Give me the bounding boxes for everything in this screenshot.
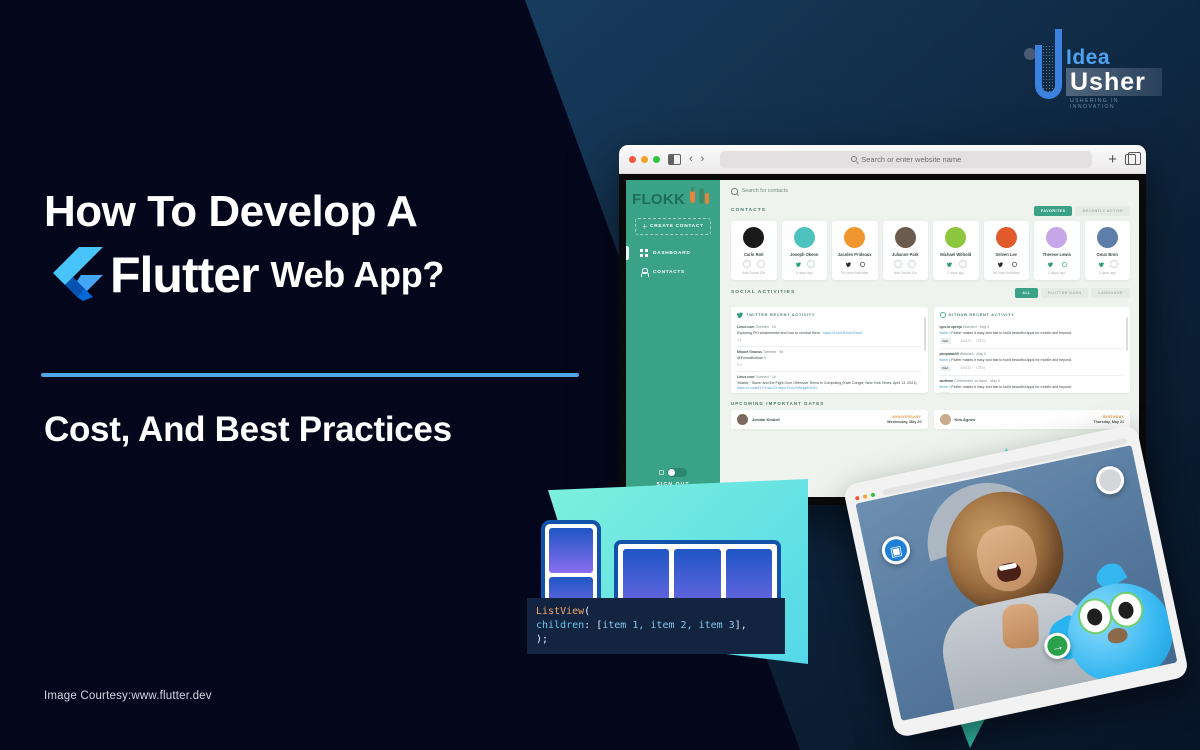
status-badge: BIRTHDAY: [1093, 415, 1124, 419]
contact-name: Carlo Roti: [733, 252, 775, 257]
avatar: [844, 227, 865, 248]
gh-time: Watched · May 9: [960, 352, 986, 356]
tweet-stats: 4 2: [737, 338, 922, 342]
flokk-brand-text: FLOKK: [632, 191, 685, 208]
avatar: [940, 414, 951, 425]
contact-card[interactable]: Michael Withold 2 days ago: [933, 221, 979, 280]
twitter-icon[interactable]: [743, 260, 751, 268]
avatar: [996, 227, 1017, 248]
close-icon[interactable]: [855, 495, 860, 500]
twitter-icon[interactable]: [793, 260, 801, 268]
tweet-body: Exploring PKI weaknesses and how to comb…: [737, 331, 922, 336]
gh-meta: igor-krupenja Watched · May 9: [940, 325, 1125, 329]
contacts-section-header: CONTACTS FAVORITES RECENTLY ACTIVE: [731, 206, 1130, 216]
github-icon[interactable]: [959, 260, 967, 268]
tweet-meta: Minuet Gnaeus Tweeted · 3d: [737, 350, 922, 354]
tweet-author: Linux.com: [737, 325, 755, 329]
date-value: Thursday, May 21: [1093, 420, 1124, 424]
person-icon: [640, 268, 648, 276]
maximize-icon[interactable]: [870, 492, 875, 497]
gh-language-tag: Dart: [940, 338, 952, 344]
avatar: [945, 227, 966, 248]
social-activities-title: SOCIAL ACTIVITIES: [731, 290, 795, 295]
tweet-author: Minuet Gnaeus: [737, 350, 762, 354]
tweet-time: Tweeted · 2d: [755, 325, 775, 329]
minimize-icon[interactable]: [641, 156, 648, 163]
contact-meta: No New Activities: [834, 271, 876, 275]
contact-social-row: [784, 260, 826, 268]
list-item[interactable]: taufimm Commented on issue · May 9 flutt…: [940, 376, 1125, 393]
code-items: item 1, item 2, item 3: [602, 620, 734, 631]
gh-language-tag: Dart: [940, 365, 952, 371]
flokk-brand: FLOKK: [632, 186, 720, 212]
idea-usher-logo: Idea Usher USHERING IN INNOVATION: [1022, 44, 1162, 108]
url-placeholder-text: Search or enter website name: [861, 155, 961, 164]
twitter-icon[interactable]: [1046, 260, 1054, 268]
gh-desc: | Flutter makes it easy and fast to buil…: [949, 385, 1072, 389]
flokk-sidebar: FLOKK + CREATE CONTACT: [626, 180, 720, 497]
list-item[interactable]: igor-krupenja Watched · May 9 flutter | …: [940, 322, 1125, 349]
github-activity-panel: GITHUB RECENT ACTIVITY igor-krupenja Wat…: [934, 307, 1131, 393]
contacts-search-input[interactable]: Search for contacts: [731, 188, 1130, 195]
twitter-icon[interactable]: [995, 260, 1003, 268]
contact-social-row: [935, 260, 977, 268]
github-icon[interactable]: [908, 260, 916, 268]
contact-name: Joseph Okeon: [784, 252, 826, 257]
gh-filter-language[interactable]: LANGUAGE: [1091, 288, 1130, 298]
twitter-panel-header: TWITTER RECENT ACTIVITY: [737, 312, 922, 318]
gh-desc: | Flutter makes it easy and fast to buil…: [949, 331, 1072, 335]
tweet-meta: Linux.com Tweeted · 2d: [737, 325, 922, 329]
contact-card[interactable]: Carlo Roti Add Social IDs: [731, 221, 777, 280]
minimize-icon[interactable]: [863, 494, 868, 499]
flutter-logo-icon: [44, 245, 106, 305]
traffic-lights: [629, 156, 660, 163]
camera-icon: ▣: [889, 543, 904, 558]
contact-name: Michael Withold: [935, 252, 977, 257]
gh-stars: 120174: [960, 366, 971, 370]
flokk-nav: DASHBOARD CONTACTS: [626, 249, 720, 276]
contact-card[interactable]: Selven Lee No New Activities: [984, 221, 1030, 280]
theme-icon: [659, 470, 664, 475]
logo-usher-text: Usher: [1066, 68, 1162, 96]
gh-body: flutter | Flutter makes it easy and fast…: [940, 331, 1125, 336]
tweet-text: Exploring PKI weaknesses and how to comb…: [737, 331, 823, 335]
twitter-icon[interactable]: [1096, 260, 1104, 268]
github-filters: ALL FLUTTER DASH LANGUAGE: [1015, 288, 1130, 298]
upcoming-dates-title: UPCOMING IMPORTANT DATES: [731, 401, 1130, 406]
code-line-2: children: [item 1, item 2, item 3],: [536, 619, 776, 633]
code-listview-token: ListView: [536, 606, 584, 617]
person-hand: [1002, 603, 1040, 648]
github-icon[interactable]: [1009, 260, 1017, 268]
contact-social-row: [885, 260, 927, 268]
theme-toggle-row: [626, 468, 720, 477]
code-children-token: children: [536, 620, 584, 631]
sidebar-toggle-icon[interactable]: [668, 154, 681, 165]
gh-author: taufimm: [940, 379, 954, 383]
create-contact-label: CREATE CONTACT: [650, 224, 704, 229]
code-line-1: ListView(: [536, 605, 776, 619]
date-card-right: BIRTHDAY Thursday, May 21: [1093, 415, 1124, 424]
gh-body: flutter | Flutter makes it easy and fast…: [940, 385, 1125, 390]
logo-u-mark: [1022, 44, 1066, 106]
avatar: [1097, 227, 1118, 248]
twitter-icon: [737, 312, 743, 318]
hero-headline: How To Develop A Flutter Web App?: [44, 185, 584, 305]
image-credit: Image Courtesy:www.flutter.dev: [44, 690, 212, 702]
image-thumbnail-fab[interactable]: [1094, 464, 1127, 497]
headline-webapp-word: Web App?: [271, 247, 445, 305]
date-card[interactable]: Kim Agnes BIRTHDAY Thursday, May 21: [934, 410, 1131, 429]
contact-meta: Add Social IDs: [733, 271, 775, 275]
avatar: [1046, 227, 1067, 248]
github-icon[interactable]: [858, 260, 866, 268]
wireframe-cell: [549, 528, 593, 573]
date-person-name: Jordan Kindell: [752, 417, 780, 422]
avatar: [737, 414, 748, 425]
poster-canvas: Idea Usher USHERING IN INNOVATION How To…: [0, 0, 1200, 750]
headline-line-1: How To Develop A: [44, 185, 584, 239]
contact-name: Omar Bron: [1087, 252, 1129, 257]
github-icon[interactable]: [1110, 260, 1118, 268]
tweet-link[interactable]: https://t.co/sMYYYnaLS3 https://t.co/SWM…: [737, 386, 818, 390]
contact-card[interactable]: Jacolen Prideaux No New Activities: [832, 221, 878, 280]
contact-card[interactable]: Joseph Okeon 6 days ago: [782, 221, 828, 280]
contact-meta: 2 days ago: [935, 271, 977, 275]
headline-subtitle: Cost, And Best Practices: [44, 410, 452, 450]
gh-time: Commented on issue · May 9: [954, 379, 1000, 383]
headline-line-2: Flutter Web App?: [44, 245, 584, 305]
gh-author: igor-krupenja: [940, 325, 962, 329]
person-mouth: [995, 561, 1022, 584]
code-bracket-end: ],: [735, 620, 747, 631]
tweet-text: 'Master,' 'Slave' and the Fight Over Off…: [737, 381, 919, 385]
twitter-activity-panel: TWITTER RECENT ACTIVITY Linux.com Tweete…: [731, 307, 928, 393]
headline-divider: [41, 373, 579, 377]
sidebar-item-contacts[interactable]: CONTACTS: [640, 268, 720, 276]
github-icon[interactable]: [757, 260, 765, 268]
avatar: [895, 227, 916, 248]
github-icon[interactable]: [1060, 260, 1068, 268]
contact-social-row: [1036, 260, 1078, 268]
gh-stars: 120174: [960, 339, 971, 343]
gh-forks: 17973: [976, 366, 985, 370]
list-item[interactable]: Linux.com Tweeted · 2d Exploring PKI wea…: [737, 322, 922, 347]
camera-fab[interactable]: ▣: [879, 534, 912, 567]
contact-meta: 2 days ago: [1087, 271, 1129, 275]
new-tab-icon[interactable]: +: [1108, 152, 1117, 167]
contact-card[interactable]: Omar Bron 2 days ago: [1085, 221, 1131, 280]
gh-language-tag: Dart: [940, 392, 952, 393]
contacts-title: CONTACTS: [731, 208, 766, 213]
contacts-filters: FAVORITES RECENTLY ACTIVE: [1034, 206, 1130, 216]
twitter-icon[interactable]: [894, 260, 902, 268]
date-card-right: ANNIVERSARY Wednesday, May 20: [887, 415, 922, 424]
filter-favorites[interactable]: FAVORITES: [1034, 206, 1073, 216]
gh-stats: Dart 120174 17973: [940, 365, 1125, 371]
gh-stats: Dart 120174 17973: [940, 338, 1125, 344]
date-value: Wednesday, May 20: [887, 420, 922, 424]
contact-meta: No New Activities: [986, 271, 1028, 275]
gh-meta: taufimm Commented on issue · May 9: [940, 379, 1125, 383]
gh-stats: Dart 120174 17973: [940, 392, 1125, 393]
list-item[interactable]: Minuet Gnaeus Tweeted · 3d @EmmaBostian …: [737, 347, 922, 372]
sidebar-item-dashboard[interactable]: DASHBOARD: [640, 249, 720, 257]
contact-name: Julianne Park: [885, 252, 927, 257]
browser-chrome: ‹ › Search or enter website name +: [619, 145, 1146, 174]
date-card-left: Jordan Kindell: [737, 414, 780, 425]
gh-filter-dash[interactable]: FLUTTER DASH: [1041, 288, 1089, 298]
contact-card-list: Carlo Roti Add Social IDs Joseph Okeon: [731, 221, 1130, 280]
forward-icon[interactable]: ›: [701, 154, 705, 165]
logo-tagline: USHERING IN INNOVATION: [1066, 98, 1162, 110]
contact-social-row: [733, 260, 775, 268]
filter-recently-active[interactable]: RECENTLY ACTIVE: [1075, 206, 1130, 216]
date-card[interactable]: Jordan Kindell ANNIVERSARY Wednesday, Ma…: [731, 410, 928, 429]
gh-meta: panpatak09 Watched · May 9: [940, 352, 1125, 356]
tweet-author: Linux.com: [737, 375, 755, 379]
back-icon[interactable]: ‹: [689, 154, 693, 165]
contact-name: Selven Lee: [986, 252, 1028, 257]
sidebar-item-dashboard-label: DASHBOARD: [653, 251, 690, 256]
theme-toggle[interactable]: [667, 468, 687, 477]
tweet-time: Tweeted · 3d: [763, 350, 783, 354]
code-paren: (: [584, 606, 590, 617]
close-icon[interactable]: [629, 156, 636, 163]
gh-repo-link[interactable]: flutter: [940, 358, 949, 362]
vegetable-illustration-icon: [687, 186, 713, 212]
twitter-icon[interactable]: [844, 260, 852, 268]
status-badge: ANNIVERSARY: [887, 415, 922, 419]
contact-social-row: [986, 260, 1028, 268]
logo-wordmark: Idea Usher USHERING IN INNOVATION: [1066, 44, 1162, 110]
gh-author: panpatak09: [940, 352, 959, 356]
search-icon: [851, 156, 857, 162]
gh-desc: | Flutter makes it easy and fast to buil…: [949, 358, 1072, 362]
create-contact-button[interactable]: + CREATE CONTACT: [635, 218, 711, 235]
tweet-time: Tweeted · 3d: [755, 375, 775, 379]
contact-name: Jacolen Prideaux: [834, 252, 876, 257]
twitter-icon[interactable]: [945, 260, 953, 268]
arrow-right-icon: →: [1050, 638, 1065, 653]
headline-flutter-word: Flutter: [110, 247, 259, 303]
contact-social-row: [834, 260, 876, 268]
avatar: [794, 227, 815, 248]
logo-u-icon: [1035, 45, 1062, 99]
social-section-header: SOCIAL ACTIVITIES ALL FLUTTER DASH LANGU…: [731, 288, 1130, 298]
gh-body: flutter | Flutter makes it easy and fast…: [940, 358, 1125, 363]
maximize-icon[interactable]: [653, 156, 660, 163]
upcoming-dates-list: Jordan Kindell ANNIVERSARY Wednesday, Ma…: [731, 410, 1130, 429]
contact-card[interactable]: Therese Lewis 2 days ago: [1034, 221, 1080, 280]
date-card-left: Kim Agnes: [940, 414, 976, 425]
gh-forks: 17973: [976, 339, 985, 343]
gh-repo-link[interactable]: flutter: [940, 385, 949, 389]
contact-meta: 6 days ago: [784, 271, 826, 275]
gh-filter-all[interactable]: ALL: [1015, 288, 1038, 298]
dash-mascot-illustration: [1038, 559, 1177, 695]
github-panel-title: GITHUB RECENT ACTIVITY: [949, 312, 1015, 317]
tweet-body: @EmmaBostian 1: [737, 356, 922, 361]
twitter-panel-title: TWITTER RECENT ACTIVITY: [746, 312, 815, 317]
tweet-body: 'Master,' 'Slave' and the Fight Over Off…: [737, 381, 922, 391]
gh-repo-link[interactable]: flutter: [940, 331, 949, 335]
tweet-stats: 0 0: [737, 363, 922, 367]
github-icon: [940, 312, 946, 318]
list-item[interactable]: panpatak09 Watched · May 9 flutter | Flu…: [940, 349, 1125, 376]
tweet-link[interactable]: https://t.co/LNJnhUYowC: [823, 331, 863, 335]
tab-overview-icon[interactable]: [1125, 154, 1136, 165]
code-colon: : [: [584, 620, 602, 631]
tweet-meta: Linux.com Tweeted · 3d: [737, 375, 922, 379]
contact-meta: Add Social IDs: [885, 271, 927, 275]
list-item[interactable]: Linux.com Tweeted · 3d 'Master,' 'Slave'…: [737, 372, 922, 393]
gh-time: Watched · May 9: [963, 325, 989, 329]
panel-scrollbar[interactable]: [924, 317, 926, 351]
url-search-input[interactable]: Search or enter website name: [720, 151, 1092, 168]
dashboard-icon: [640, 249, 648, 257]
github-panel-header: GITHUB RECENT ACTIVITY: [940, 312, 1125, 318]
contacts-search-placeholder: Search for contacts: [742, 188, 788, 194]
code-snippet: ListView( children: [item 1, item 2, ite…: [527, 598, 785, 654]
code-line-3: );: [536, 633, 776, 647]
github-icon[interactable]: [807, 260, 815, 268]
social-panels: TWITTER RECENT ACTIVITY Linux.com Tweete…: [731, 307, 1130, 393]
logo-idea-text: Idea: [1066, 48, 1162, 68]
search-icon: [731, 188, 738, 195]
contact-name: Therese Lewis: [1036, 252, 1078, 257]
contact-social-row: [1087, 260, 1129, 268]
avatar: [743, 227, 764, 248]
panel-scrollbar[interactable]: [1126, 317, 1128, 351]
contact-meta: 2 days ago: [1036, 271, 1078, 275]
contact-card[interactable]: Julianne Park Add Social IDs: [883, 221, 929, 280]
plus-icon: +: [642, 223, 647, 231]
sidebar-item-contacts-label: CONTACTS: [653, 270, 685, 275]
date-person-name: Kim Agnes: [955, 417, 976, 422]
